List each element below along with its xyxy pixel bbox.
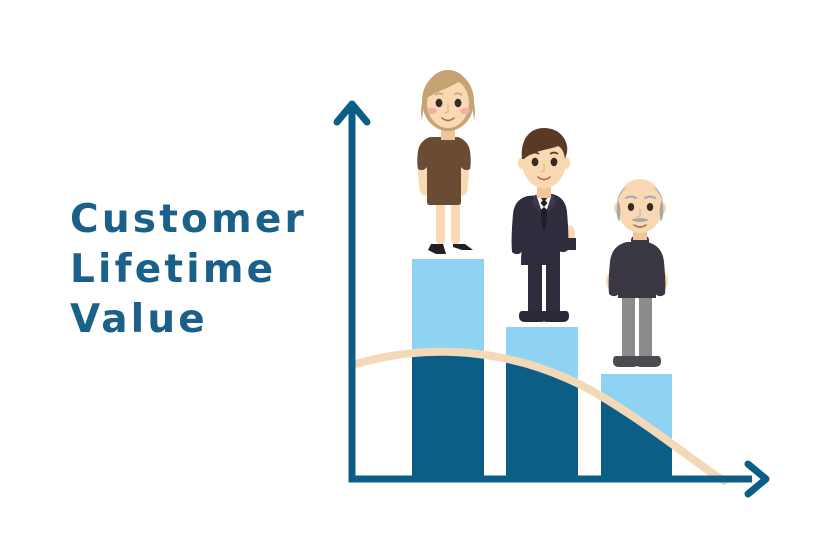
man-right-shoe [541,311,569,322]
elder-right-leg [639,288,652,362]
woman-left-eye [436,99,443,107]
man-right-eye [551,158,558,166]
illustration-canvas: Customer Lifetime Value [0,0,834,550]
clv-chart-illustration [0,0,834,550]
bar-customer-1 [400,250,500,550]
woman-figure [417,70,475,254]
woman-right-blush [460,108,470,114]
elder-right-shoe [635,356,661,367]
woman-right-shoe [453,244,473,250]
elderly-man-figure [606,179,668,367]
elder-sweater [609,242,666,298]
elder-left-eye [628,203,634,211]
elder-head [617,179,663,233]
elder-right-eye [647,203,653,211]
man-left-eye [532,158,539,166]
woman-left-shoe [428,244,446,254]
businessman-figure [512,128,576,322]
woman-right-eye [455,99,462,107]
man-suit-hem [512,238,576,250]
woman-left-blush [427,108,437,114]
elder-left-leg [622,288,635,362]
bar-customer-2 [495,320,595,550]
